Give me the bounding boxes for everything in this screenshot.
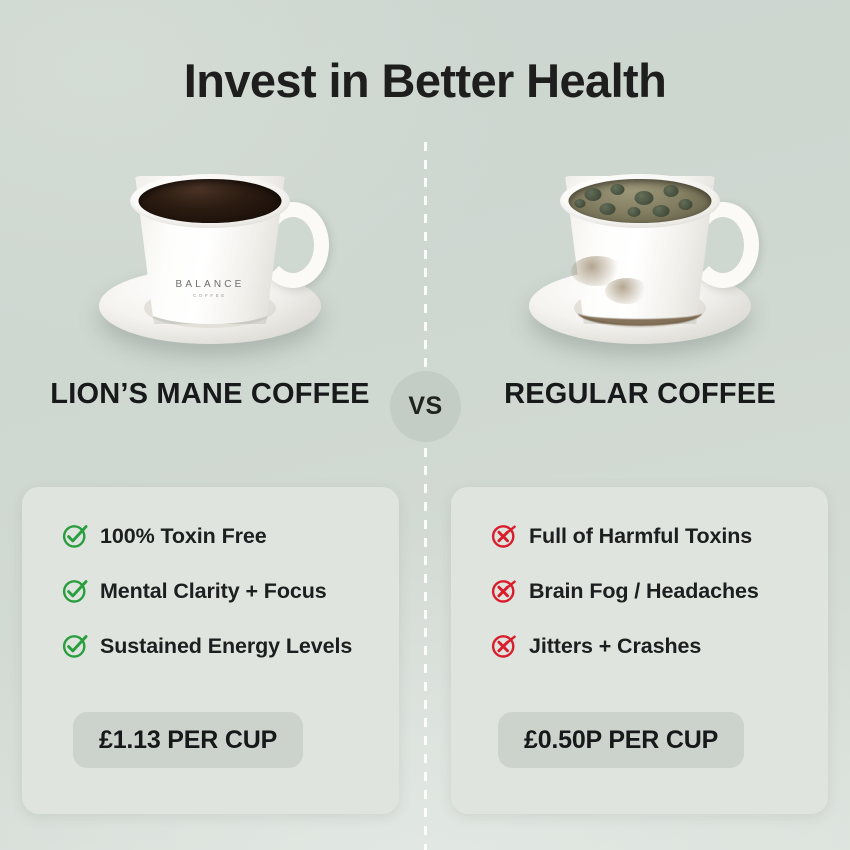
coffee-surface-black <box>139 179 282 223</box>
list-item: Mental Clarity + Focus <box>62 578 379 604</box>
product-title-lions-mane: LION’S MANE COFFEE <box>0 376 420 413</box>
drawback-label: Jitters + Crashes <box>529 634 701 659</box>
list-item: Jitters + Crashes <box>491 633 808 659</box>
page-title: Invest in Better Health <box>0 56 850 105</box>
cross-circle-icon <box>491 578 517 604</box>
check-circle-icon <box>62 633 88 659</box>
drawback-label: Brain Fog / Headaches <box>529 579 759 604</box>
coffee-cup-moldy-image <box>515 150 765 350</box>
coffee-cup-clean-image: BALANCE COFFEE <box>85 150 335 350</box>
list-item: Brain Fog / Headaches <box>491 578 808 604</box>
brand-name: BALANCE <box>175 280 244 290</box>
price-badge-regular: £0.50P PER CUP <box>498 712 744 768</box>
benefit-label: 100% Toxin Free <box>100 524 267 549</box>
vertical-dashed-divider <box>424 142 427 850</box>
cross-circle-icon <box>491 633 517 659</box>
check-circle-icon <box>62 523 88 549</box>
check-circle-icon <box>62 578 88 604</box>
list-item: Full of Harmful Toxins <box>491 523 808 549</box>
benefits-card-lions-mane: 100% Toxin Free Mental Clarity + Focus <box>22 487 399 814</box>
drawback-label: Full of Harmful Toxins <box>529 524 752 549</box>
brand-subtitle: COFFEE <box>175 294 244 299</box>
list-item: 100% Toxin Free <box>62 523 379 549</box>
benefit-list: 100% Toxin Free Mental Clarity + Focus <box>62 523 379 688</box>
cup-base-ring-stain <box>578 300 702 326</box>
product-title-regular: REGULAR COFFEE <box>430 376 850 413</box>
cup-brand-mark: BALANCE COFFEE <box>175 280 244 299</box>
benefit-label: Sustained Energy Levels <box>100 634 352 659</box>
coffee-surface-moldy <box>569 179 712 223</box>
price-badge-lions-mane: £1.13 PER CUP <box>73 712 303 768</box>
infographic-canvas: Invest in Better Health BALANCE COFFEE <box>0 0 850 850</box>
cross-circle-icon <box>491 523 517 549</box>
drawbacks-card-regular: Full of Harmful Toxins Brain Fog / Heada… <box>451 487 828 814</box>
list-item: Sustained Energy Levels <box>62 633 379 659</box>
drawback-list: Full of Harmful Toxins Brain Fog / Heada… <box>491 523 808 688</box>
benefit-label: Mental Clarity + Focus <box>100 579 327 604</box>
